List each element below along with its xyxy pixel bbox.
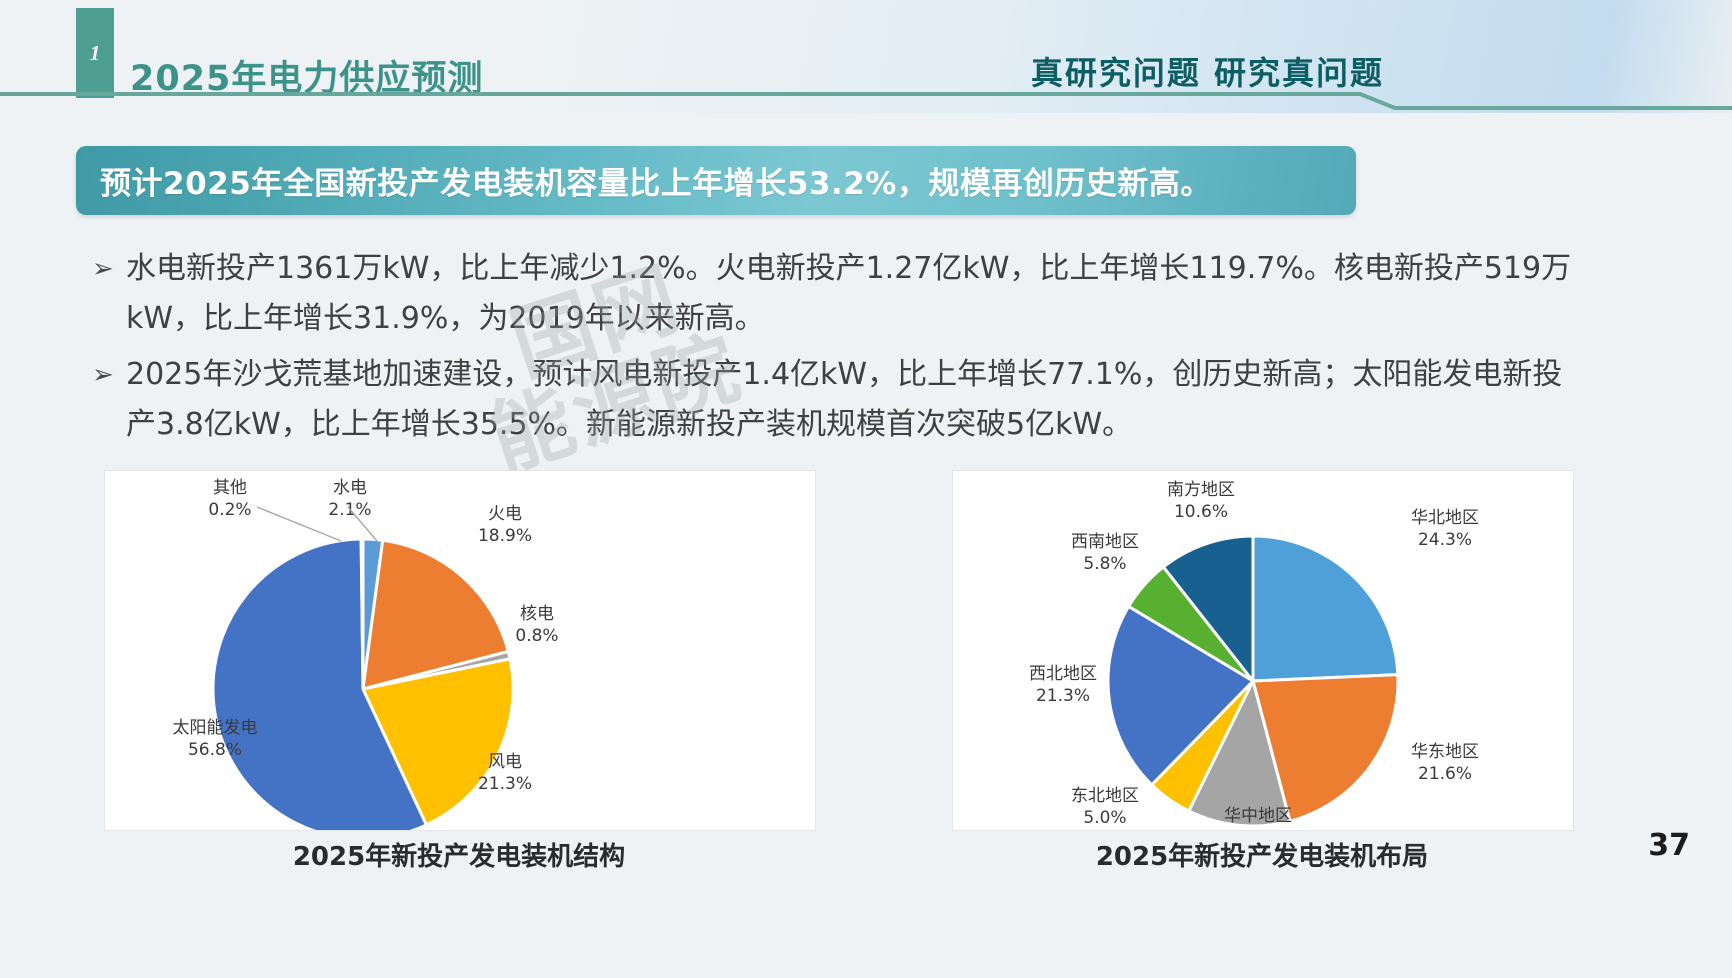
pie-chart-structure: 其他0.2%水电2.1%火电18.9%核电0.8%风电21.3%太阳能发电56.…	[105, 471, 815, 830]
slide-header: 1 2025年电力供应预测 真研究问题 研究真问题	[0, 0, 1732, 118]
svg-text:东北地区: 东北地区	[1071, 786, 1139, 806]
header-rule	[0, 86, 1732, 110]
svg-text:18.9%: 18.9%	[478, 526, 532, 546]
section-number: 1	[90, 41, 101, 66]
highlight-banner: 预计2025年全国新投产发电装机容量比上年增长53.2%，规模再创历史新高。	[76, 146, 1356, 215]
pie-label: 水电2.1%	[328, 478, 371, 520]
list-item-text: 水电新投产1361万kW，比上年减少1.2%。火电新投产1.27亿kW，比上年增…	[126, 244, 1592, 344]
chart-caption-layout: 2025年新投产发电装机布局	[952, 836, 1572, 873]
svg-text:5.0%: 5.0%	[1083, 808, 1126, 828]
svg-text:西北地区: 西北地区	[1029, 664, 1097, 684]
chart-panel-structure: 其他0.2%水电2.1%火电18.9%核电0.8%风电21.3%太阳能发电56.…	[104, 470, 816, 831]
svg-text:0.2%: 0.2%	[208, 500, 251, 520]
svg-text:21.3%: 21.3%	[1036, 686, 1090, 706]
pie-label: 华东地区21.6%	[1411, 742, 1479, 784]
pie-label: 华北地区24.3%	[1411, 508, 1479, 550]
svg-text:11.4%: 11.4%	[1231, 828, 1285, 830]
pie-label: 西南地区5.8%	[1071, 532, 1139, 574]
chart-panel-layout: 南方地区10.6%西南地区5.8%西北地区21.3%东北地区5.0%华中地区11…	[952, 470, 1574, 831]
pie-label: 西北地区21.3%	[1029, 664, 1097, 706]
svg-text:华东地区: 华东地区	[1411, 742, 1479, 762]
svg-text:21.6%: 21.6%	[1418, 764, 1472, 784]
svg-text:5.8%: 5.8%	[1083, 554, 1126, 574]
svg-text:水电: 水电	[333, 478, 367, 498]
svg-text:太阳能发电: 太阳能发电	[173, 718, 258, 738]
svg-text:其他: 其他	[213, 478, 247, 498]
svg-text:火电: 火电	[488, 504, 522, 524]
section-number-block: 1	[76, 8, 114, 98]
svg-text:24.3%: 24.3%	[1418, 530, 1472, 550]
svg-text:核电: 核电	[520, 604, 554, 624]
list-item: ➢ 水电新投产1361万kW，比上年减少1.2%。火电新投产1.27亿kW，比上…	[92, 244, 1592, 344]
page-number: 37	[1648, 828, 1690, 863]
svg-text:华北地区: 华北地区	[1411, 508, 1479, 528]
svg-text:10.6%: 10.6%	[1174, 502, 1228, 522]
svg-text:0.8%: 0.8%	[515, 626, 558, 646]
svg-text:西南地区: 西南地区	[1071, 532, 1139, 552]
bullet-arrow-icon: ➢	[92, 350, 126, 400]
bullet-arrow-icon: ➢	[92, 244, 126, 294]
svg-text:华中地区: 华中地区	[1224, 806, 1292, 826]
highlight-banner-text: 预计2025年全国新投产发电装机容量比上年增长53.2%，规模再创历史新高。	[76, 158, 1212, 203]
pie-chart-layout: 南方地区10.6%西南地区5.8%西北地区21.3%东北地区5.0%华中地区11…	[953, 471, 1573, 830]
list-item: ➢ 2025年沙戈荒基地加速建设，预计风电新投产1.4亿kW，比上年增长77.1…	[92, 350, 1592, 450]
svg-text:21.3%: 21.3%	[478, 774, 532, 794]
svg-text:南方地区: 南方地区	[1167, 480, 1235, 500]
pie-label: 东北地区5.0%	[1071, 786, 1139, 828]
bullet-list: ➢ 水电新投产1361万kW，比上年减少1.2%。火电新投产1.27亿kW，比上…	[92, 244, 1592, 456]
pie-label: 火电18.9%	[478, 504, 532, 546]
svg-text:风电: 风电	[488, 752, 522, 772]
pie-label: 南方地区10.6%	[1167, 480, 1235, 522]
pie-label: 核电0.8%	[515, 604, 558, 646]
svg-text:56.8%: 56.8%	[188, 740, 242, 760]
list-item-text: 2025年沙戈荒基地加速建设，预计风电新投产1.4亿kW，比上年增长77.1%，…	[126, 350, 1592, 450]
pie-label: 其他0.2%	[208, 478, 251, 520]
chart-caption-structure: 2025年新投产发电装机结构	[104, 836, 814, 873]
